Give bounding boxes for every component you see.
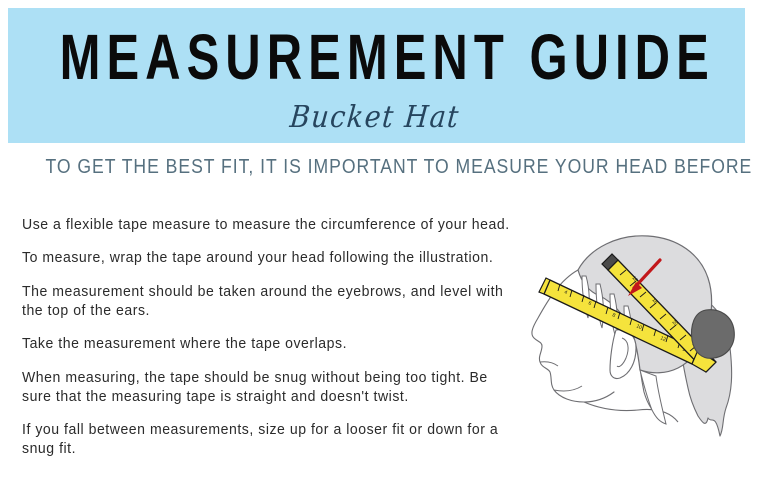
instruction-item: Use a flexible tape measure to measure t…	[22, 216, 513, 235]
ear-shape	[610, 330, 636, 379]
side-hair-shape	[640, 370, 666, 424]
page-title: MEASUREMENT GUIDE	[60, 25, 694, 90]
chin-line	[554, 386, 582, 391]
instruction-item: To measure, wrap the tape around your he…	[22, 249, 513, 268]
instruction-item: The measurement should be taken around t…	[22, 283, 513, 321]
instruction-item: If you fall between measurements, size u…	[22, 421, 513, 459]
instruction-item: When measuring, the tape should be snug …	[22, 369, 513, 407]
measurement-illustration: 4 6 8 10 12 14	[520, 222, 758, 504]
instruction-item: Take the measurement where the tape over…	[22, 335, 513, 354]
header-band: MEASUREMENT GUIDE Bucket Hat	[8, 8, 745, 143]
hair-tie-shape	[692, 310, 735, 359]
tagline: TO GET THE BEST FIT, IT IS IMPORTANT TO …	[45, 156, 712, 179]
product-name-script: Bucket Hat	[5, 100, 745, 135]
instruction-list: Use a flexible tape measure to measure t…	[22, 201, 528, 459]
